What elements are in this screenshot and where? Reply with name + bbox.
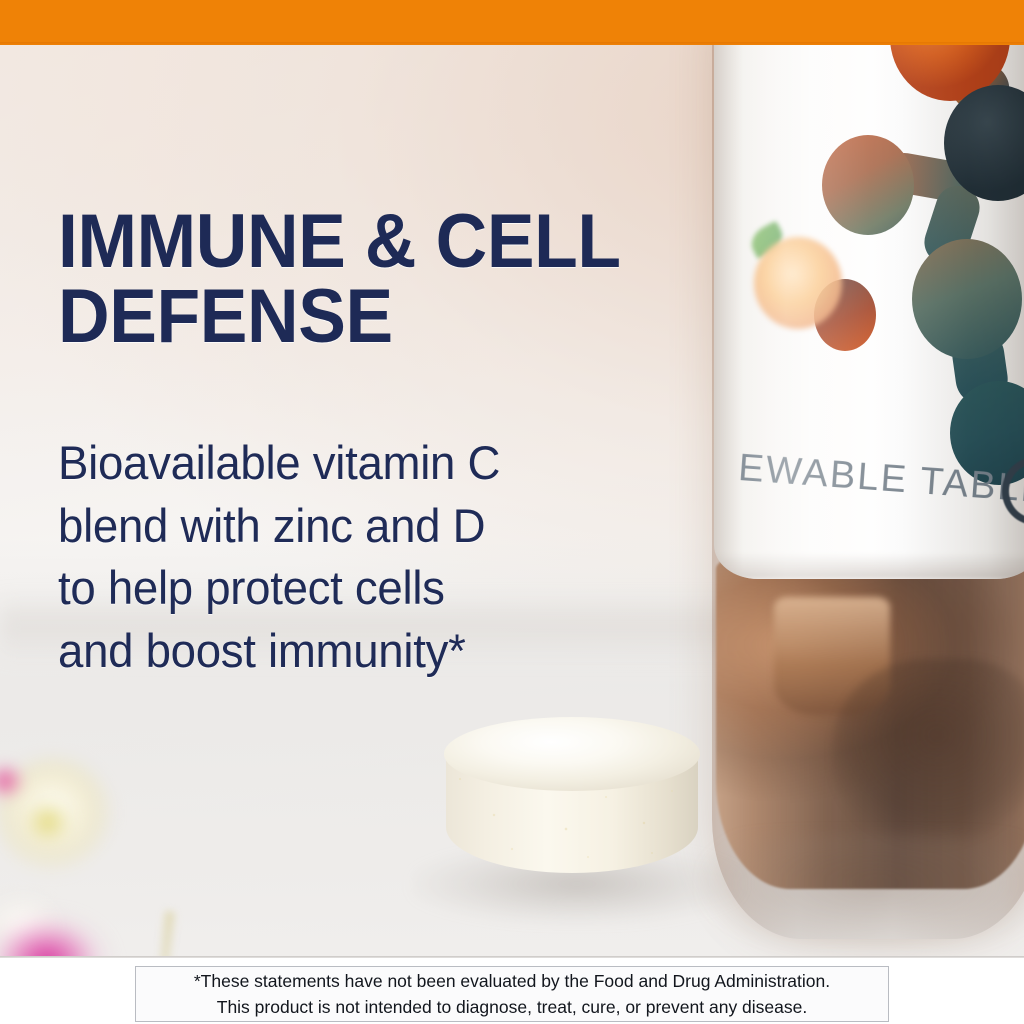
fda-disclaimer-line-1: *These statements have not been evaluate…: [194, 968, 830, 994]
product-marketing-image: EWABLE TABLETS IMMUNE & CELL DEFENSE Bio…: [0, 0, 1024, 1024]
bottle-label: EWABLE TABLETS: [714, 45, 1024, 579]
top-orange-bar: [0, 0, 1024, 45]
footer: *These statements have not been evaluate…: [0, 958, 1024, 1024]
supplement-bottle: EWABLE TABLETS: [712, 45, 1024, 958]
product-description: Bioavailable vitamin C blend with zinc a…: [58, 432, 679, 682]
fda-disclaimer-line-2: This product is not intended to diagnose…: [217, 994, 808, 1020]
product-photo-panel: EWABLE TABLETS IMMUNE & CELL DEFENSE Bio…: [0, 45, 1024, 958]
tablet-top-face: [444, 717, 700, 791]
fda-disclaimer-box: *These statements have not been evaluate…: [135, 966, 889, 1022]
flower-center-icon: [22, 797, 74, 847]
bottle-drop-shadow: [702, 835, 1024, 955]
label-bottom-edge: [714, 553, 1024, 579]
page-title: IMMUNE & CELL DEFENSE: [58, 204, 716, 354]
bottle-contents-shadow: [832, 659, 1024, 849]
molecule-node-icon: [822, 135, 914, 235]
orange-fruit-icon: [754, 237, 842, 329]
molecule-node-icon: [912, 239, 1022, 359]
chewable-tablet: [440, 717, 710, 917]
